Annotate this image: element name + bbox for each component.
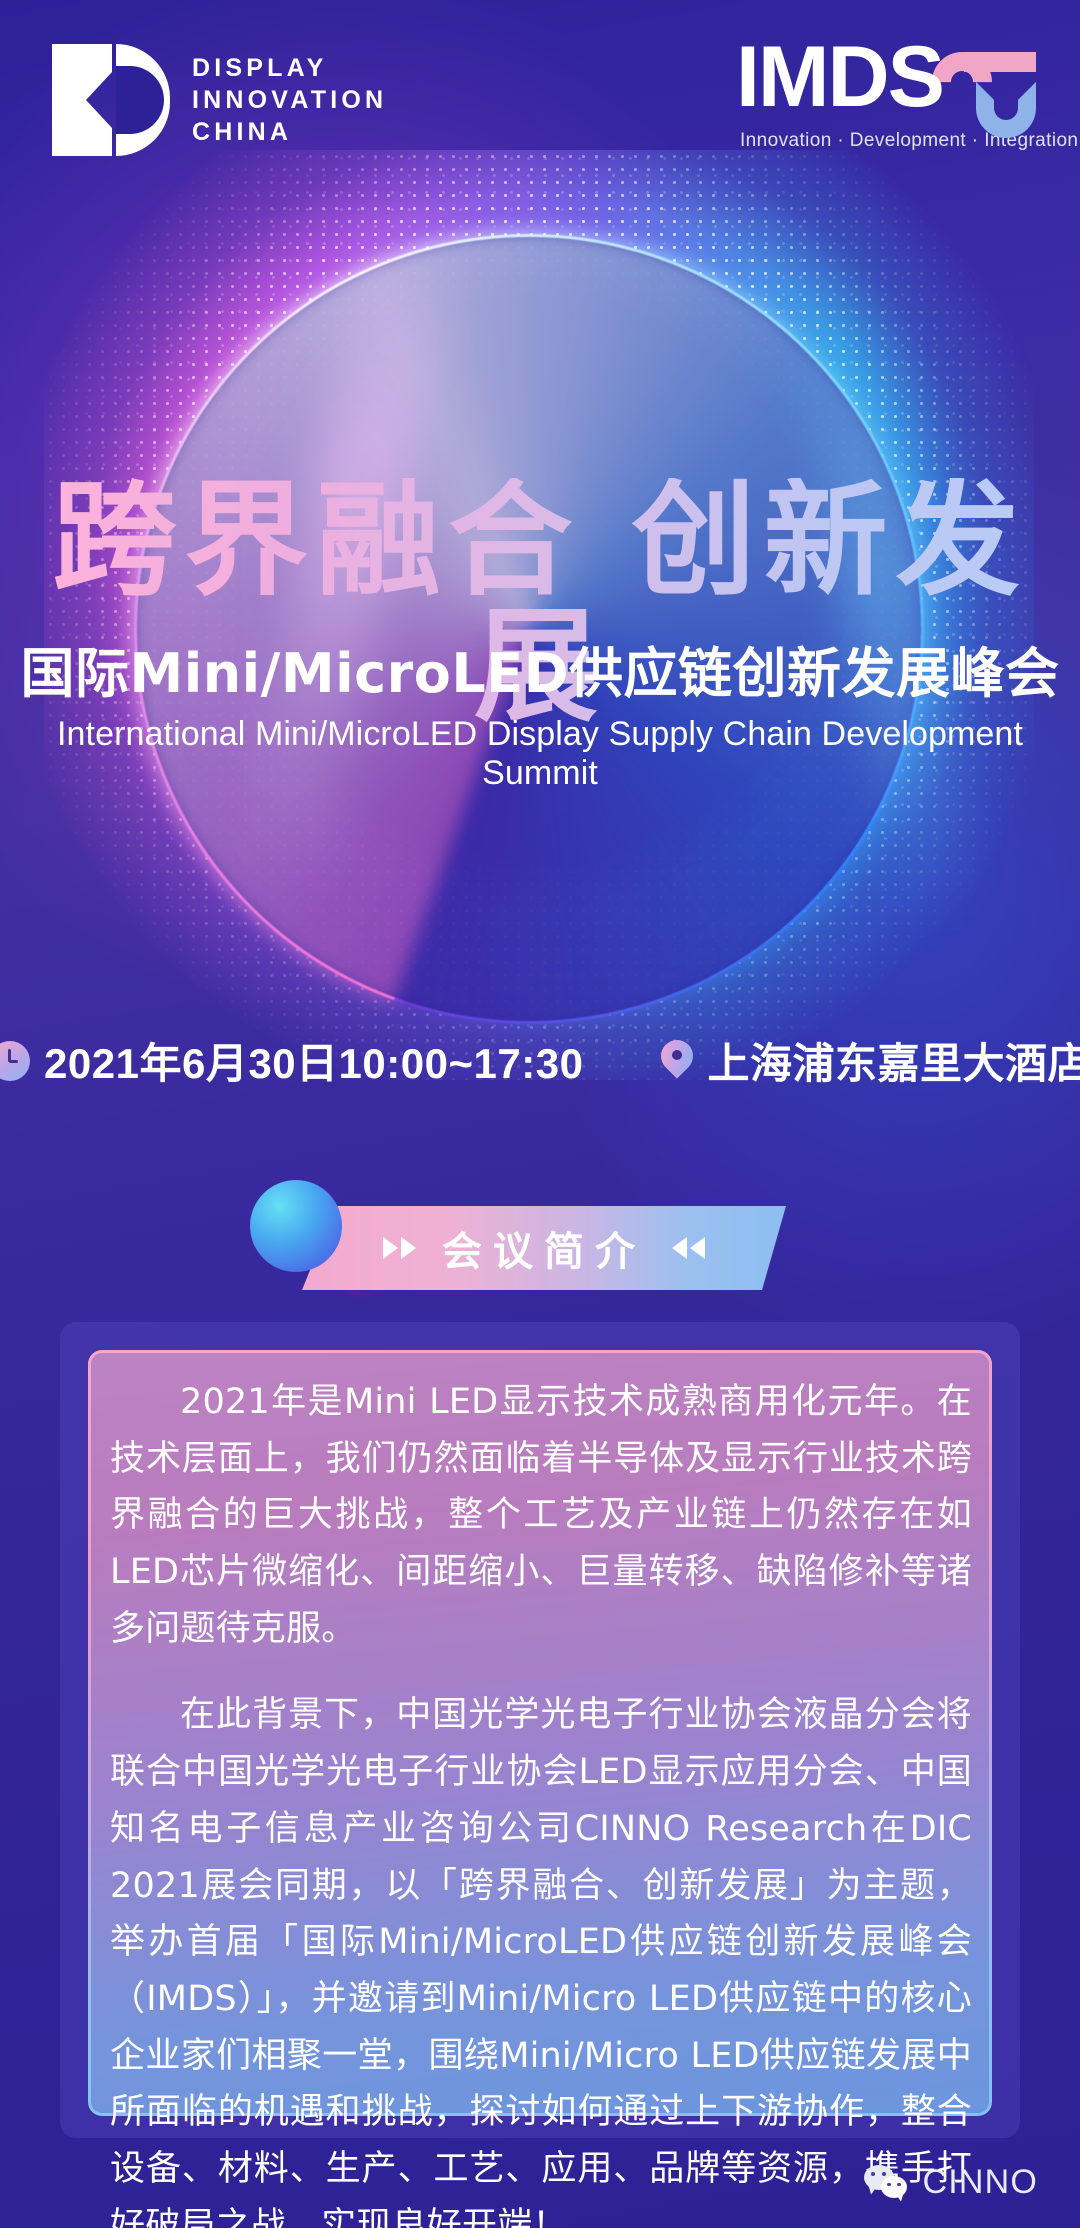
location-pin-icon (661, 1040, 693, 1082)
subtitle-chinese: 国际Mini/MicroLED供应链创新发展峰会 (0, 644, 1080, 703)
dic-mark-icon (52, 44, 170, 156)
dic-logo: DISPLAY INNOVATION CHINA (52, 44, 387, 156)
dic-logo-wordmark: DISPLAY INNOVATION CHINA (192, 56, 387, 145)
intro-paragraph-1: 2021年是Mini LED显示技术成熟商用化元年。在技术层面上，我们仍然面临着… (110, 1374, 972, 1657)
section-banner-title: 会议简介 (442, 1219, 646, 1277)
event-venue: 上海浦东嘉里大酒店 (661, 1030, 1080, 1091)
imds-logo: IMDS Innovation · Development · Integrat… (736, 38, 1036, 158)
intro-card-text: 2021年是Mini LED显示技术成熟商用化元年。在技术层面上，我们仍然面临着… (110, 1374, 972, 2094)
section-banner: 会议简介 (0, 1178, 1080, 1318)
imds-wordmark: IMDS (736, 34, 943, 120)
event-date: 2021年6月30日10:00~17:30 (0, 1030, 583, 1091)
event-meta: 2021年6月30日10:00~17:30 上海浦东嘉里大酒店 (0, 1030, 1080, 1091)
clock-icon (0, 1041, 30, 1081)
subtitle-english: International Mini/MicroLED Display Supp… (0, 715, 1080, 793)
dic-line-1: DISPLAY (192, 56, 387, 81)
event-date-text: 2021年6月30日10:00~17:30 (44, 1030, 583, 1091)
footer-brand-name: CINNO (922, 2163, 1038, 2202)
imds-tagline: Innovation · Development · Integration (740, 130, 1078, 152)
wechat-icon (864, 2165, 910, 2201)
dic-line-3: CHINA (192, 120, 387, 145)
double-arrow-right-icon (383, 1237, 416, 1259)
dic-line-2: INNOVATION (192, 88, 387, 113)
event-venue-text: 上海浦东嘉里大酒店 (707, 1030, 1080, 1091)
poster-footer: CINNO (864, 2163, 1038, 2202)
intro-paragraph-2: 在此背景下，中国光学光电子行业协会液晶分会将联合中国光学光电子行业协会LED显示… (110, 1687, 972, 2228)
double-arrow-left-icon (672, 1237, 705, 1259)
poster-header: DISPLAY INNOVATION CHINA IMDS Innovation… (0, 0, 1080, 180)
event-poster: DISPLAY INNOVATION CHINA IMDS Innovation… (0, 0, 1080, 2228)
